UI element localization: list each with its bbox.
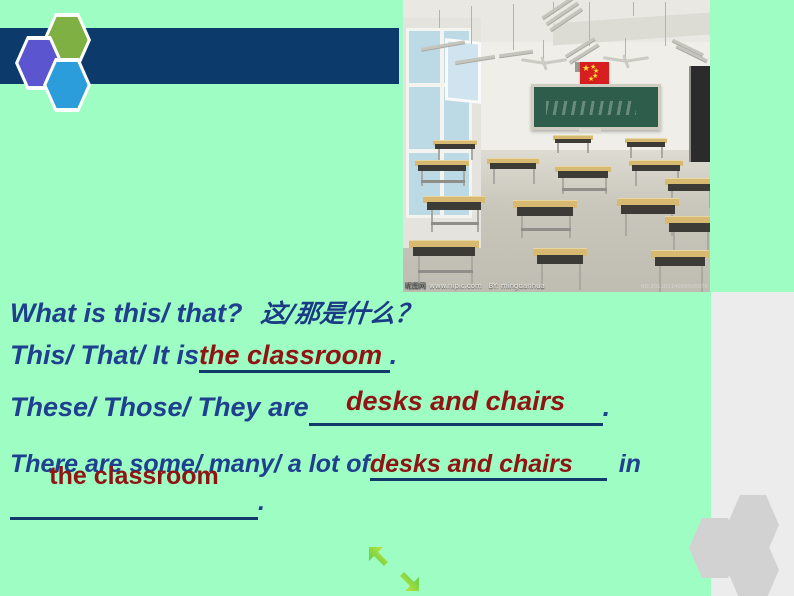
- desk: [409, 240, 479, 284]
- line5-answer: the classroom: [49, 462, 219, 491]
- line2-prompt: This/ That/ It is: [10, 340, 199, 370]
- desk: [487, 158, 539, 184]
- line5-blank: the classroom: [10, 488, 258, 520]
- line-5: the classroom.: [10, 488, 265, 520]
- line3-blank: desks and chairs: [309, 392, 603, 426]
- line2-period: .: [390, 340, 398, 370]
- blackboard: [531, 84, 661, 130]
- photo-watermark: 昵图网 www.nipic.com BY: mingdanhua: [404, 282, 545, 291]
- slide-canvas: ★★ ★★ ★: [0, 0, 794, 596]
- desk: [423, 196, 485, 232]
- line1-english: What is this/ that?: [10, 298, 243, 328]
- classroom-photo: ★★ ★★ ★: [403, 0, 710, 292]
- classroom-door: [689, 66, 710, 162]
- line4-tail: in: [619, 450, 641, 478]
- watermark-url: www.nipic.com: [429, 282, 482, 290]
- line-1: What is this/ that?这/那是什么？: [10, 294, 420, 330]
- chinese-flag: ★★ ★★ ★: [580, 62, 609, 84]
- watermark-author: BY: mingdanhua: [488, 282, 544, 290]
- line1-chinese: 这/那是什么？: [259, 294, 422, 330]
- line-2: This/ That/ It isthe classroom .: [10, 340, 397, 371]
- open-window-pane: [445, 38, 481, 104]
- line2-answer: the classroom: [199, 340, 390, 373]
- desk: [555, 166, 611, 194]
- photo-watermark-id: NO.20110114000500976: [641, 284, 708, 290]
- watermark-site-cn: 昵图网: [404, 282, 427, 290]
- line-3: These/ Those/ They are desks and chairs.: [10, 392, 610, 426]
- desk: [433, 140, 477, 160]
- green-arrows-decor: [366, 544, 430, 594]
- line3-prompt: These/ Those/ They are: [10, 392, 309, 422]
- header-hexagon-cluster: [13, 10, 93, 98]
- desk: [513, 200, 577, 238]
- line4-answer: desks and chairs: [370, 450, 607, 481]
- desk: [415, 160, 469, 186]
- desk: [553, 135, 593, 153]
- desk: [625, 138, 667, 158]
- line3-period: .: [603, 392, 611, 422]
- arrow-down-right-icon: [392, 564, 422, 594]
- line3-answer: desks and chairs: [346, 386, 565, 417]
- line5-period: .: [258, 488, 265, 516]
